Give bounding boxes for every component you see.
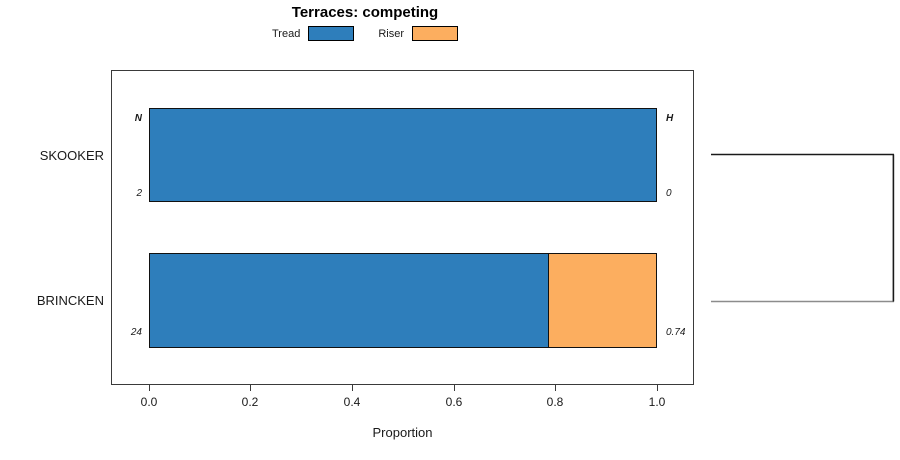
x-tick-label-1: 0.2 <box>242 395 259 409</box>
x-tick-3 <box>454 385 455 391</box>
x-tick-label-4: 0.8 <box>547 395 564 409</box>
category-label-skooker: SKOOKER <box>4 148 104 163</box>
annotation-n-brincken: 24 <box>114 327 142 338</box>
x-tick-label-3: 0.6 <box>446 395 463 409</box>
category-label-brincken: BRINCKEN <box>0 293 104 308</box>
bar-row-brincken <box>149 253 657 348</box>
legend-label-tread: Tread <box>272 28 300 40</box>
x-tick-4 <box>555 385 556 391</box>
dendrogram-bracket <box>700 130 900 330</box>
bar-segment-riser-brincken <box>548 254 656 347</box>
legend-label-riser: Riser <box>378 28 404 40</box>
annotation-n-skooker: 2 <box>118 188 142 199</box>
x-tick-2 <box>352 385 353 391</box>
x-tick-5 <box>657 385 658 391</box>
chart-root: Terraces: competing Tread Riser SKOOKER … <box>0 0 900 460</box>
legend-item-riser: Riser <box>378 26 458 41</box>
bar-segment-tread-skooker <box>150 109 656 201</box>
x-tick-label-5: 1.0 <box>649 395 666 409</box>
bar-track-skooker <box>149 108 657 202</box>
bar-row-skooker <box>149 108 657 202</box>
bar-segment-tread-brincken <box>150 254 548 347</box>
x-tick-0 <box>149 385 150 391</box>
x-axis-title: Proportion <box>111 425 694 440</box>
x-tick-label-2: 0.4 <box>344 395 361 409</box>
annotation-header-n-skooker: N <box>118 113 142 124</box>
bar-track-brincken <box>149 253 657 348</box>
x-tick-label-0: 0.0 <box>141 395 158 409</box>
legend-item-tread: Tread <box>272 26 354 41</box>
x-tick-1 <box>250 385 251 391</box>
legend-swatch-tread <box>308 26 354 41</box>
chart-title: Terraces: competing <box>0 4 730 21</box>
chart-legend: Tread Riser <box>0 26 730 41</box>
annotation-header-h-skooker: H <box>666 113 706 124</box>
legend-swatch-riser <box>412 26 458 41</box>
